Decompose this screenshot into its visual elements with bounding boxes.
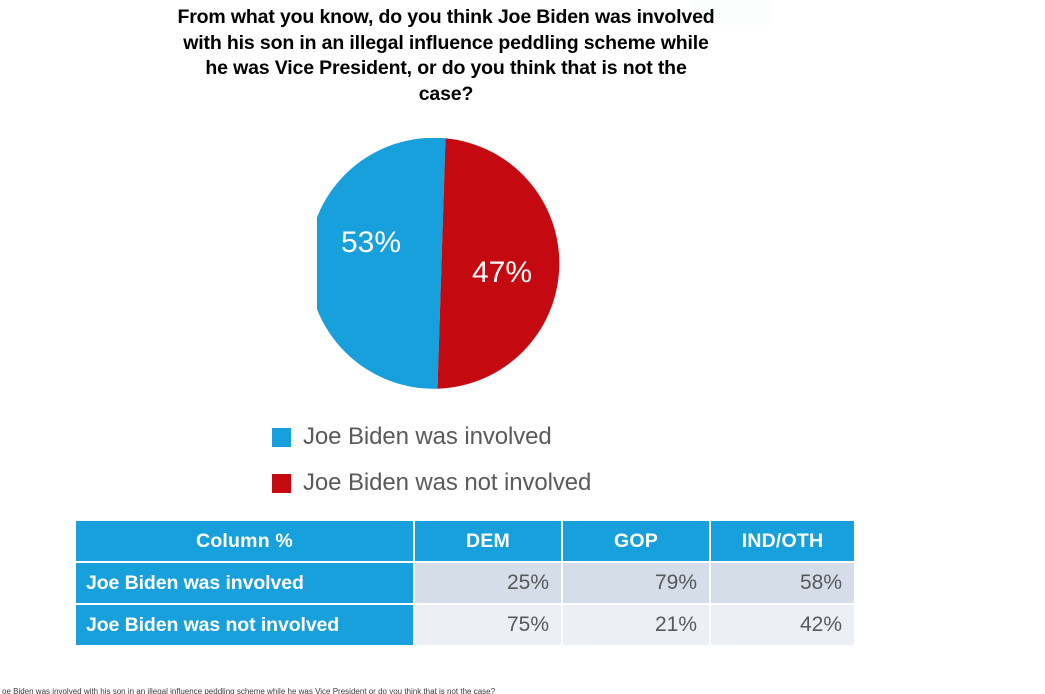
- pie-chart: 53% 47%: [317, 138, 568, 389]
- table-row: Joe Biden was not involved 75% 21% 42%: [76, 605, 854, 645]
- row-header-involved: Joe Biden was involved: [76, 563, 413, 603]
- column-header-metric[interactable]: Column %: [76, 521, 413, 561]
- crosstab-body: Joe Biden was involved 25% 79% 58% Joe B…: [76, 563, 854, 645]
- pie-value-label-involved: 53%: [331, 226, 411, 260]
- cell-involved-gop: 79%: [563, 563, 709, 603]
- legend-label-involved: Joe Biden was involved: [303, 423, 552, 451]
- footnote-cropped: oe Biden was involved with his son in an…: [2, 682, 1042, 694]
- table-header-row: Column % DEM GOP IND/OTH: [76, 521, 854, 561]
- legend-item-not-involved[interactable]: Joe Biden was not involved: [272, 460, 692, 506]
- column-header-ind-oth[interactable]: IND/OTH: [711, 521, 854, 561]
- pie-slice-involved[interactable]: [317, 138, 446, 389]
- cell-involved-ind-oth: 58%: [711, 563, 854, 603]
- cell-not-involved-ind-oth: 42%: [711, 605, 854, 645]
- pie-value-label-not-involved: 47%: [462, 256, 542, 290]
- cell-not-involved-gop: 21%: [563, 605, 709, 645]
- cell-not-involved-dem: 75%: [415, 605, 561, 645]
- table-row: Joe Biden was involved 25% 79% 58%: [76, 563, 854, 603]
- chart-legend: Joe Biden was involved Joe Biden was not…: [272, 414, 692, 506]
- row-header-not-involved: Joe Biden was not involved: [76, 605, 413, 645]
- column-header-gop[interactable]: GOP: [563, 521, 709, 561]
- legend-swatch-red-icon: [272, 474, 291, 493]
- crosstab-table: Column % DEM GOP IND/OTH Joe Biden was i…: [74, 519, 856, 647]
- legend-item-involved[interactable]: Joe Biden was involved: [272, 414, 692, 460]
- crosstab-header: Column % DEM GOP IND/OTH: [76, 521, 854, 561]
- chart-title: From what you know, do you think Joe Bid…: [176, 5, 716, 107]
- legend-label-not-involved: Joe Biden was not involved: [303, 469, 591, 497]
- column-header-dem[interactable]: DEM: [415, 521, 561, 561]
- cell-involved-dem: 25%: [415, 563, 561, 603]
- legend-swatch-blue-icon: [272, 428, 291, 447]
